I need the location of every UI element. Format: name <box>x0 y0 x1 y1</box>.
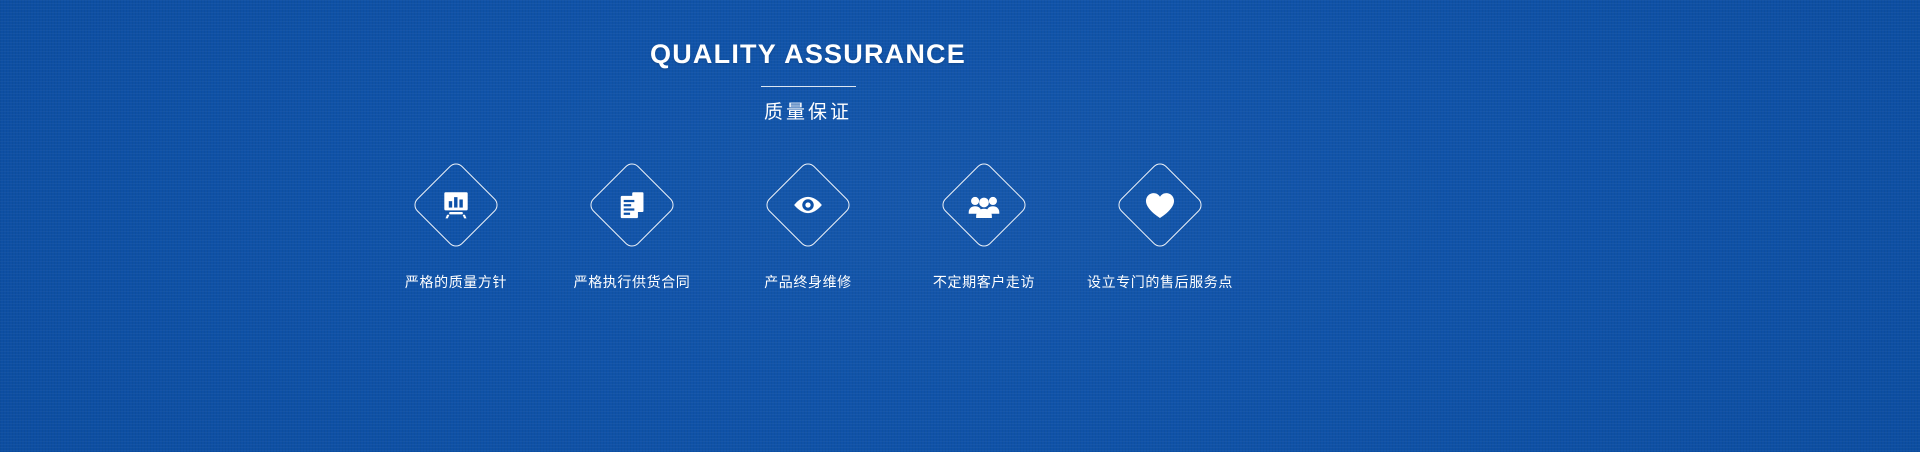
feature-label: 产品终身维修 <box>764 273 852 291</box>
diamond-frame <box>587 160 678 251</box>
page-title: QUALITY ASSURANCE <box>0 40 1616 68</box>
people-group-icon <box>967 188 1001 222</box>
feature-item-quality-policy[interactable]: 严格的质量方针 <box>368 168 544 291</box>
presentation-chart-icon <box>439 188 473 222</box>
title-divider <box>761 86 856 87</box>
diamond-frame <box>763 160 854 251</box>
document-contract-icon <box>615 188 649 222</box>
feature-label: 不定期客户走访 <box>933 273 1035 291</box>
feature-item-customer-visit[interactable]: 不定期客户走访 <box>896 168 1072 291</box>
section-header: QUALITY ASSURANCE 质量保证 <box>0 40 1616 125</box>
feature-item-supply-contract[interactable]: 严格执行供货合同 <box>544 168 720 291</box>
content-column: QUALITY ASSURANCE 质量保证 <box>0 0 1616 452</box>
eye-icon <box>791 188 825 222</box>
heart-icon <box>1143 188 1177 222</box>
diamond-frame <box>939 160 1030 251</box>
diamond-frame <box>1115 160 1206 251</box>
diamond-frame <box>411 160 502 251</box>
feature-item-lifetime-repair[interactable]: 产品终身维修 <box>720 168 896 291</box>
feature-list: 严格的质量方针 严格执行供货 <box>0 168 1616 291</box>
feature-label: 严格的质量方针 <box>405 273 507 291</box>
feature-label: 严格执行供货合同 <box>574 273 691 291</box>
feature-item-service-center[interactable]: 设立专门的售后服务点 <box>1072 168 1248 291</box>
feature-label: 设立专门的售后服务点 <box>1087 273 1233 291</box>
quality-assurance-section: QUALITY ASSURANCE 质量保证 <box>0 0 1920 452</box>
section-subtitle: 质量保证 <box>0 102 1616 125</box>
